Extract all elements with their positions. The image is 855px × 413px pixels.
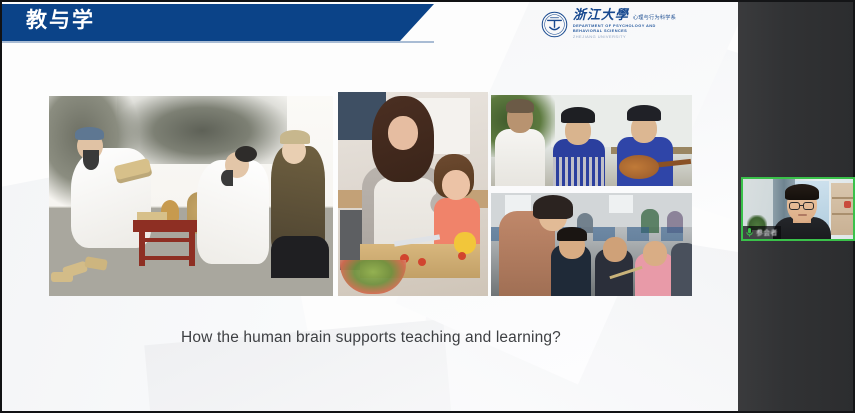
slide-header-underline (2, 41, 434, 43)
slide-photo-music-teaching (491, 95, 692, 186)
participant-name: 参会者 (756, 228, 778, 238)
participant-video-tile[interactable]: 参会者 (741, 177, 855, 241)
slide-photo-kitchen-teaching (338, 92, 488, 296)
app-root: 教与学 浙江大學 心理与行为科学系 DEPARTMENT OF PSYCHOLO… (0, 0, 855, 413)
shared-screen-stage[interactable]: 教与学 浙江大學 心理与行为科学系 DEPARTMENT OF PSYCHOLO… (0, 0, 738, 413)
participant-filmstrip[interactable]: 参会者 (738, 0, 855, 413)
logo-department-cn: 心理与行为科学系 (633, 14, 676, 23)
logo-university-en: ZHEJIANG UNIVERSITY (573, 35, 676, 40)
slide-caption: How the human brain supports teaching an… (2, 328, 738, 348)
slide-photo-classroom-teaching (491, 193, 692, 296)
zju-seal-icon (541, 11, 568, 38)
slide-photo-confucius-teaching (49, 96, 333, 296)
slide-title: 教与学 (26, 8, 95, 34)
logo-name-cn: 浙江大學 (573, 9, 629, 23)
zju-logo: 浙江大學 心理与行为科学系 DEPARTMENT OF PSYCHOLOGY A… (541, 9, 676, 39)
microphone-icon (745, 227, 754, 238)
participant-name-badge: 参会者 (743, 226, 781, 239)
